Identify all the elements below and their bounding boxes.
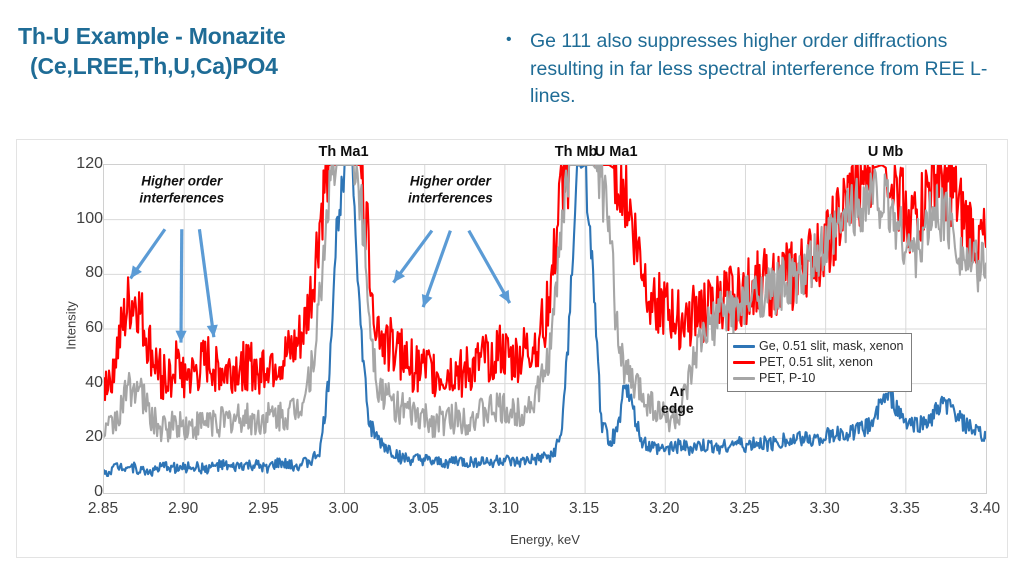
legend-color-swatch	[733, 361, 755, 364]
legend-item: Ge, 0.51 slit, mask, xenon	[733, 338, 904, 354]
annotation-line-1: Higher order	[410, 174, 492, 189]
x-tick-label: 3.20	[634, 500, 694, 518]
annotation-line-1: Higher order	[141, 174, 223, 189]
title-line-1: Th-U Example - Monazite	[18, 23, 286, 49]
x-tick-label: 3.15	[554, 500, 614, 518]
arrow-head	[422, 294, 433, 307]
y-tick-label: 100	[63, 211, 103, 227]
y-axis-tick-labels: 020406080100120	[59, 140, 103, 559]
annotation-line-1: Ar	[670, 383, 686, 399]
legend-label: PET, 0.51 slit, xenon	[759, 355, 873, 369]
peak-label: Th Mb	[555, 144, 598, 160]
annotation-line-2: interferences	[408, 191, 493, 206]
chart-container: Intensity 020406080100120 2.852.902.953.…	[16, 139, 1008, 558]
y-tick-label: 40	[63, 375, 103, 391]
y-tick-label: 60	[63, 320, 103, 336]
arrow-shaft	[199, 229, 213, 337]
spectrum-svg: Higher orderinterferencesHigher orderint…	[104, 165, 986, 493]
legend-color-swatch	[733, 377, 755, 380]
annotation-line-2: edge	[661, 400, 694, 416]
bullet-text: Ge 111 also suppresses higher order diff…	[530, 28, 1006, 111]
bullet-list: • Ge 111 also suppresses higher order di…	[506, 28, 1006, 111]
arrow-right-3	[469, 231, 510, 303]
legend-color-swatch	[733, 345, 755, 348]
legend-item: PET, 0.51 slit, xenon	[733, 354, 904, 370]
annotation-line-2: interferences	[139, 191, 224, 206]
chart-legend: Ge, 0.51 slit, mask, xenonPET, 0.51 slit…	[727, 333, 912, 392]
y-tick-label: 20	[63, 429, 103, 445]
x-tick-label: 2.95	[233, 500, 293, 518]
arrow-shaft	[423, 231, 450, 308]
x-tick-label: 3.25	[714, 500, 774, 518]
bullet-point-icon: •	[506, 28, 530, 52]
x-tick-label: 3.10	[474, 500, 534, 518]
x-tick-label: 2.90	[153, 500, 213, 518]
annotation-higher-order-left: Higher orderinterferences	[139, 174, 224, 206]
peak-label: Th Ma1	[319, 144, 369, 160]
x-tick-label: 3.00	[314, 500, 374, 518]
arrow-head	[175, 331, 186, 343]
annotation-ar-edge: Aredge	[661, 383, 694, 416]
chart-plot-wrap: Intensity 020406080100120 2.852.902.953.…	[17, 140, 1009, 559]
arrow-shaft	[469, 231, 510, 303]
x-tick-label: 2.85	[73, 500, 133, 518]
legend-label: PET, P-10	[759, 371, 815, 385]
arrow-right-2	[422, 231, 451, 308]
legend-label: Ge, 0.51 slit, mask, xenon	[759, 339, 904, 353]
arrow-left-3	[199, 229, 217, 337]
plot-area: Higher orderinterferencesHigher orderint…	[103, 164, 987, 494]
annotation-higher-order-right: Higher orderinterferences	[408, 174, 493, 206]
legend-item: PET, P-10	[733, 370, 904, 386]
slide-root: Th-U Example - Monazite (Ce,LREE,Th,U,Ca…	[0, 0, 1024, 576]
arrow-shaft	[181, 229, 182, 342]
list-item: • Ge 111 also suppresses higher order di…	[506, 28, 1006, 111]
y-tick-label: 80	[63, 265, 103, 281]
title-line-2: (Ce,LREE,Th,U,Ca)PO4	[18, 52, 488, 82]
x-tick-label: 3.30	[795, 500, 855, 518]
peak-label: U Ma1	[595, 144, 638, 160]
x-tick-label: 3.05	[394, 500, 454, 518]
y-tick-label: 120	[63, 156, 103, 172]
x-axis-title: Energy, keV	[103, 532, 987, 547]
x-tick-label: 3.35	[875, 500, 935, 518]
arrow-head	[130, 265, 141, 278]
page-title: Th-U Example - Monazite (Ce,LREE,Th,U,Ca…	[18, 22, 488, 82]
x-tick-label: 3.40	[955, 500, 1015, 518]
peak-label: U Mb	[868, 144, 903, 160]
arrow-left-1	[130, 229, 164, 278]
y-tick-label: 0	[63, 484, 103, 500]
arrow-left-2	[175, 229, 186, 342]
